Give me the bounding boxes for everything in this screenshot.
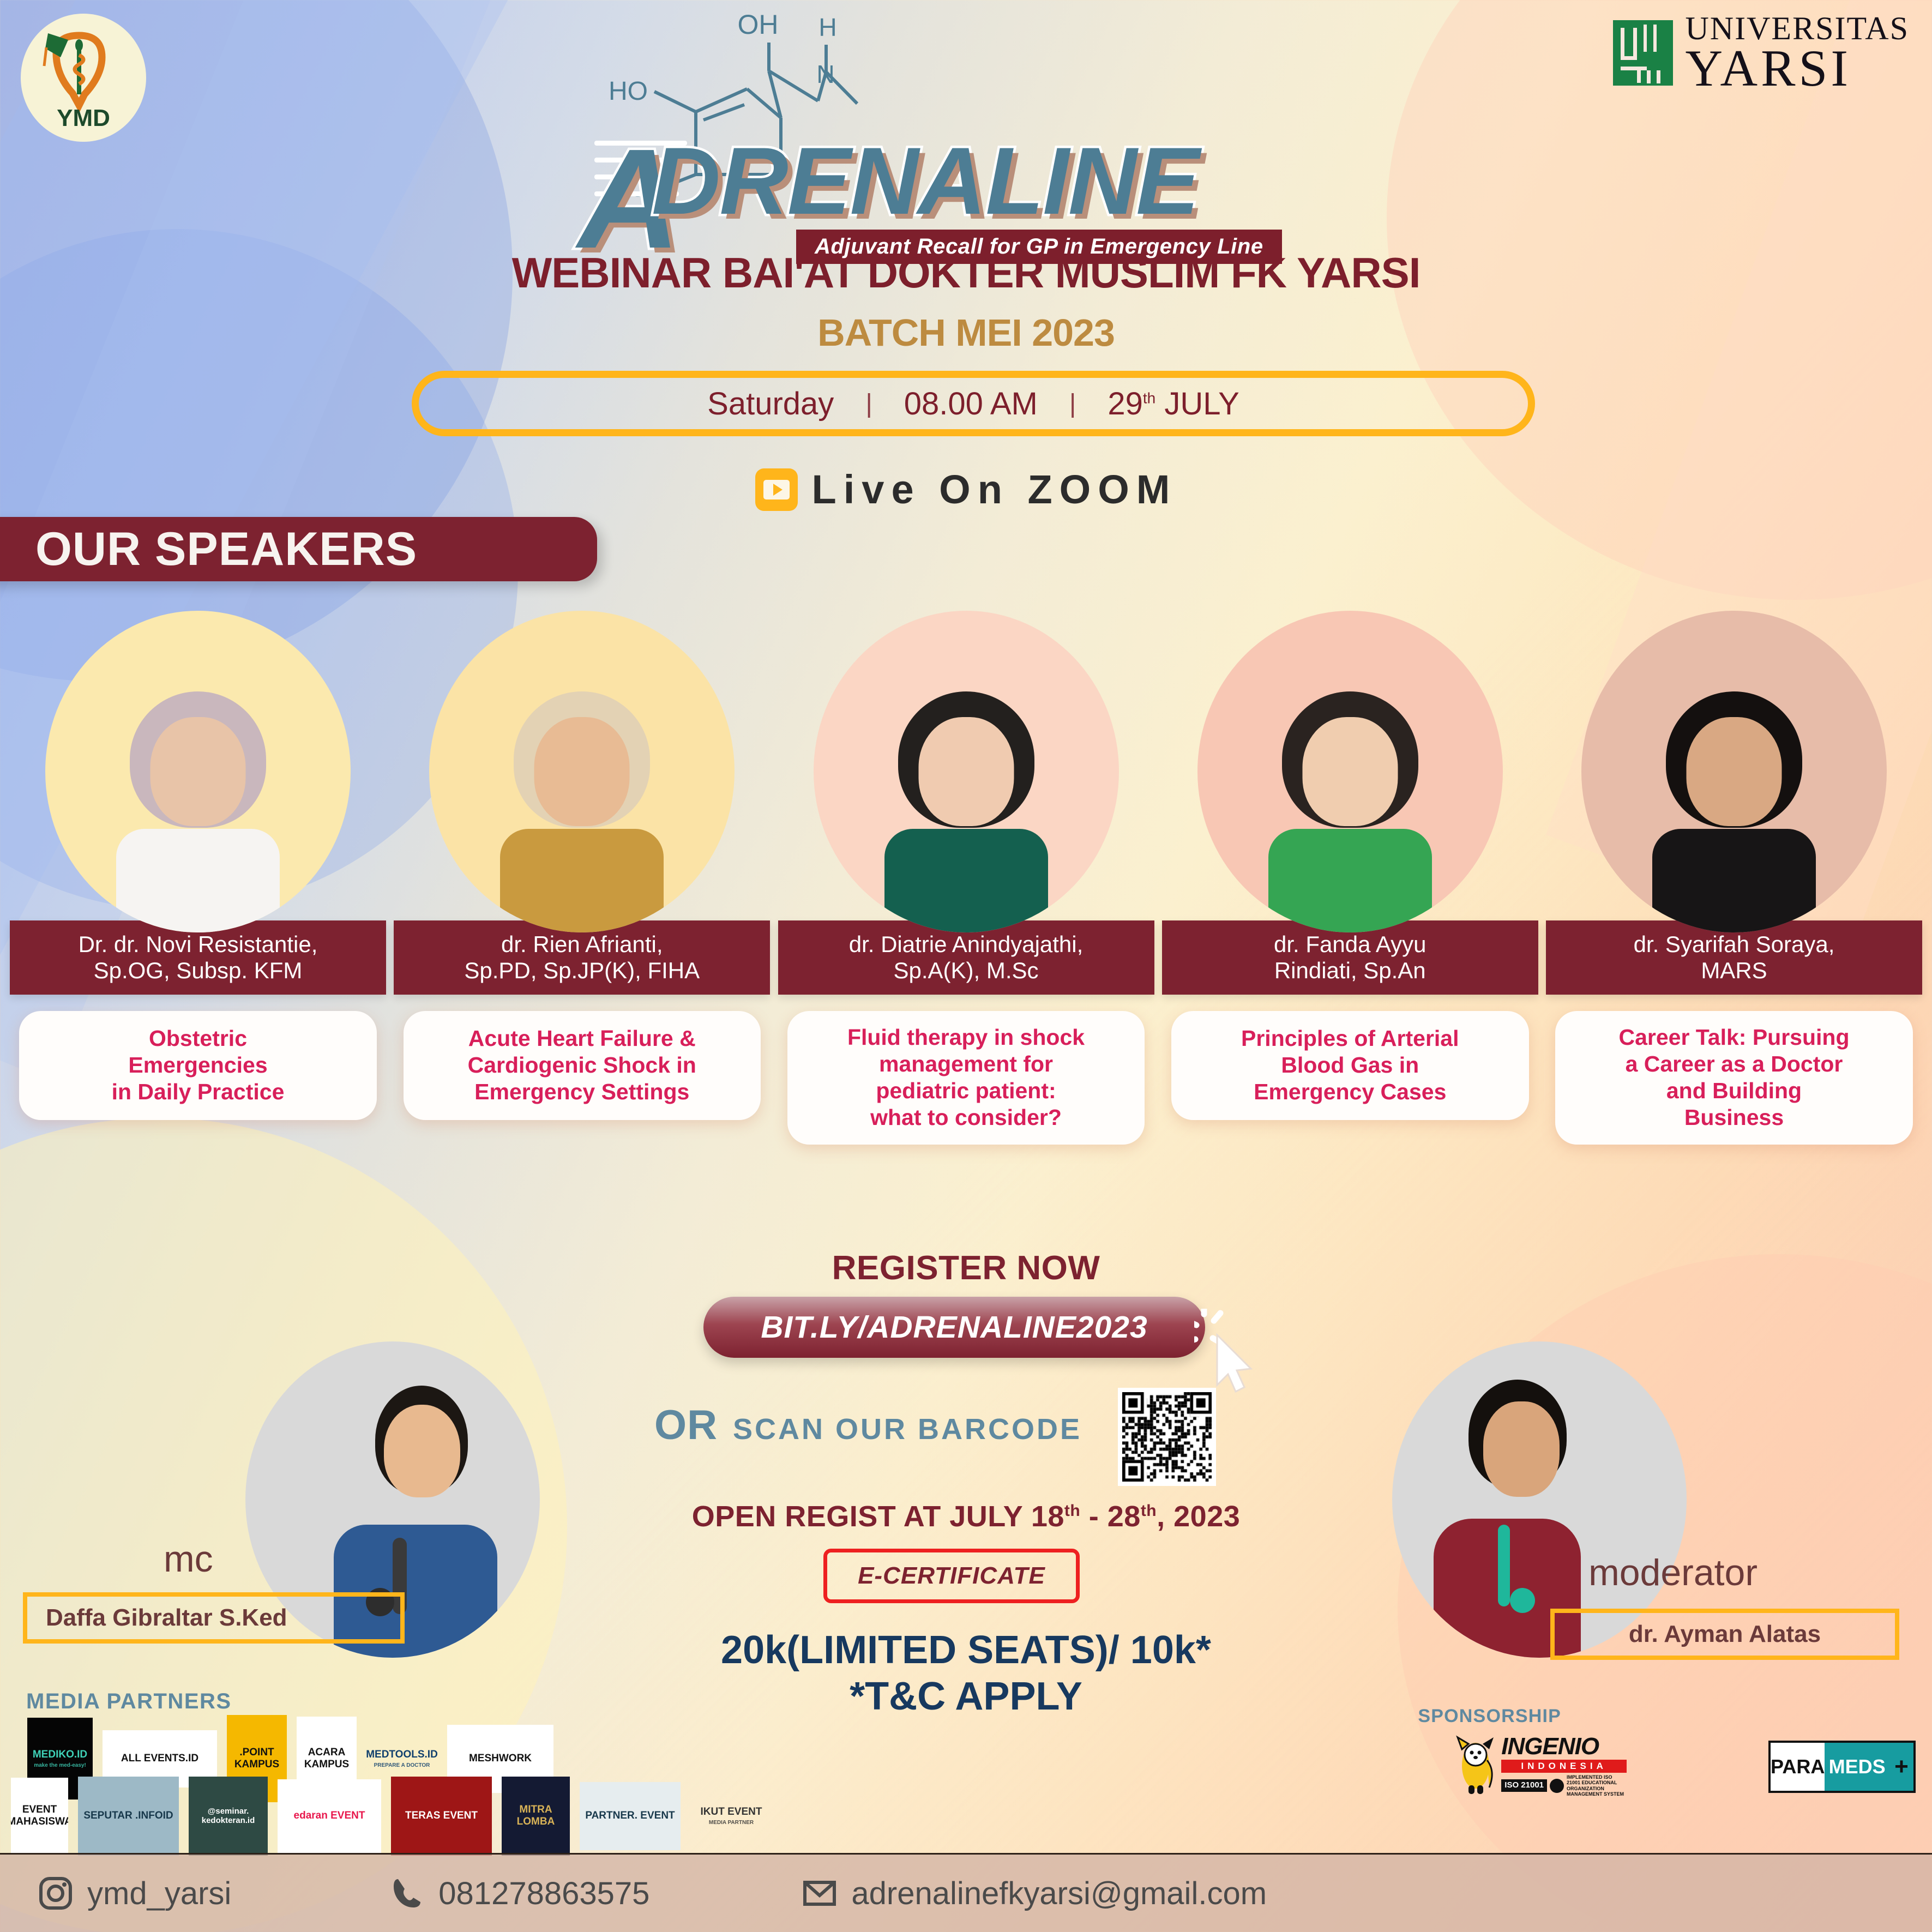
- speakers-grid: Dr. dr. Novi Resistantie,Sp.OG, Subsp. K…: [0, 611, 1932, 1145]
- sponsorship-title: SPONSORSHIP: [1418, 1706, 1561, 1727]
- speaker-photo: [1581, 611, 1887, 932]
- email-address: adrenalinefkyarsi@gmail.com: [851, 1875, 1267, 1912]
- media-partner-logo: PARTNER. EVENT: [580, 1782, 681, 1850]
- contact-instagram[interactable]: ymd_yarsi: [38, 1875, 231, 1912]
- mail-icon: [802, 1876, 837, 1911]
- speaker-topic: ObstetricEmergenciesin Daily Practice: [19, 1011, 377, 1120]
- e-certificate-label: E-CERTIFICATE: [858, 1562, 1045, 1590]
- datetime-separator-1: |: [865, 389, 872, 419]
- media-partner-name: IKUT EVENT: [701, 1806, 762, 1818]
- contact-phone[interactable]: 081278863575: [389, 1875, 649, 1912]
- alt-register-row: OR SCAN OUR BARCODE: [654, 1401, 1082, 1449]
- molecule-label-h: H: [818, 13, 836, 41]
- platform-row: Live On ZOOM: [0, 466, 1932, 513]
- media-partner-name: .POINT KAMPUS: [229, 1747, 285, 1771]
- media-partner-logo: TERAS EVENT: [391, 1777, 492, 1856]
- price-line-2: *T&C APPLY: [0, 1674, 1932, 1719]
- media-partner-name: edaran EVENT: [294, 1810, 365, 1822]
- media-partner-name: @seminar. kedokteran.id: [191, 1807, 266, 1826]
- media-partner-name: TERAS EVENT: [405, 1810, 478, 1822]
- registration-link-button[interactable]: BIT.LY/ADRENALINE2023: [703, 1297, 1205, 1358]
- mc-name: Daffa Gibraltar S.Ked: [46, 1604, 287, 1631]
- speaker-photo: [1197, 611, 1503, 932]
- media-partner-logo: MITRA LOMBA: [502, 1777, 570, 1856]
- media-partner-logo: IKUT EVENTMEDIA PARTNER: [690, 1775, 772, 1857]
- instagram-handle: ymd_yarsi: [87, 1875, 231, 1912]
- our-speakers-banner: OUR SPEAKERS: [0, 517, 597, 581]
- media-partner-tagline: MEDIA PARTNER: [709, 1820, 754, 1826]
- sponsor-ingenio-iso-desc: IMPLEMENTED ISO 21001 EDUCATIONAL ORGANI…: [1567, 1774, 1627, 1797]
- media-partner-name: MEDIKO.ID: [33, 1749, 87, 1761]
- platform-label: Live On ZOOM: [812, 466, 1177, 513]
- sponsor-parameds-right: MEDS: [1825, 1743, 1889, 1791]
- instagram-icon: [38, 1876, 73, 1911]
- contact-footer: ymd_yarsi 081278863575 adrenalinefkyarsi…: [0, 1853, 1932, 1932]
- ymd-logo: YMD: [21, 14, 146, 142]
- registration-link-text: BIT.LY/ADRENALINE2023: [761, 1309, 1147, 1345]
- sponsor-parameds-logo: PARA MEDS +: [1768, 1741, 1916, 1793]
- speaker-topic: Career Talk: Pursuinga Career as a Docto…: [1555, 1011, 1913, 1145]
- media-partners-title: MEDIA PARTNERS: [26, 1689, 232, 1714]
- event-batch: BATCH MEI 2023: [0, 311, 1932, 354]
- adrenaline-logo-text: DRENALINE: [652, 134, 1199, 229]
- sponsor-ingenio-country: INDONESIA: [1501, 1760, 1627, 1773]
- speaker-photo: [45, 611, 351, 932]
- event-datetime-bar: Saturday | 08.00 AM | 29th JULY: [412, 371, 1535, 436]
- sponsor-ingenio-logo: INGENIO INDONESIA ISO 21001 IMPLEMENTED …: [1454, 1733, 1627, 1798]
- mc-role-label: mc: [164, 1538, 213, 1580]
- scan-barcode-label: SCAN OUR BARCODE: [733, 1412, 1082, 1446]
- event-date: 29th JULY: [1108, 386, 1239, 422]
- qr-code-icon[interactable]: [1118, 1388, 1216, 1486]
- molecule-label-oh: OH: [738, 11, 779, 40]
- speaker-card: dr. Diatrie Anindyajathi,Sp.A(K), M.ScFl…: [778, 611, 1154, 1145]
- speaker-photo: [429, 611, 735, 932]
- media-partner-name: ALL EVENTS.ID: [121, 1753, 198, 1765]
- event-day: Saturday: [707, 386, 834, 422]
- media-partner-name: MEDTOOLS.ID: [366, 1749, 437, 1761]
- media-partner-name: MITRA LOMBA: [504, 1804, 568, 1828]
- media-partner-logo: SEPUTAR .INFOID: [78, 1777, 179, 1856]
- event-headline: WEBINAR BAI'AT DOKTER MUSLIM FK YARSI: [0, 248, 1932, 298]
- e-certificate-badge: E-CERTIFICATE: [823, 1549, 1080, 1603]
- adrenaline-logo: A DRENALINE Adjuvant Recall for GP in Em…: [578, 123, 1331, 232]
- moderator-role-label: moderator: [1588, 1551, 1758, 1594]
- or-label: OR: [654, 1401, 718, 1449]
- speaker-topic: Fluid therapy in shockmanagement forpedi…: [787, 1011, 1145, 1145]
- datetime-separator-2: |: [1069, 389, 1076, 419]
- sponsor-parameds-left: PARA: [1771, 1743, 1825, 1791]
- sponsor-ingenio-iso: ISO 21001: [1501, 1779, 1547, 1792]
- yarsi-emblem-icon: [1613, 20, 1673, 86]
- sponsor-ingenio-name: INGENIO: [1501, 1735, 1627, 1759]
- media-partner-name: ACARA KAMPUS: [299, 1747, 354, 1771]
- university-name-line2: YARSI: [1685, 44, 1909, 92]
- click-cursor-icon: [1194, 1309, 1265, 1399]
- ymd-logo-icon: YMD: [34, 23, 133, 133]
- speaker-card: dr. Fanda AyyuRindiati, Sp.AnPrinciples …: [1162, 611, 1538, 1145]
- moderator-name-box: dr. Ayman Alatas: [1550, 1609, 1899, 1660]
- contact-email[interactable]: adrenalinefkyarsi@gmail.com: [802, 1875, 1267, 1912]
- molecule-label-ho-top: HO: [609, 77, 648, 106]
- speaker-card: dr. Rien Afrianti,Sp.PD, Sp.JP(K), FIHAA…: [394, 611, 770, 1145]
- speaker-topic: Acute Heart Failure &Cardiogenic Shock i…: [404, 1011, 761, 1120]
- molecule-label-n: N: [816, 60, 834, 88]
- media-partner-logo: EVENT MAHASISWA: [11, 1778, 68, 1854]
- phone-icon: [389, 1876, 424, 1911]
- mc-name-box: Daffa Gibraltar S.Ked: [23, 1592, 405, 1644]
- media-partner-name: PARTNER. EVENT: [585, 1810, 675, 1822]
- our-speakers-label: OUR SPEAKERS: [35, 522, 417, 576]
- speaker-card: dr. Syarifah Soraya,MARSCareer Talk: Pur…: [1546, 611, 1922, 1145]
- media-partner-logo: edaran EVENT: [278, 1779, 381, 1853]
- play-button-icon: [755, 468, 798, 511]
- moderator-name: dr. Ayman Alatas: [1629, 1621, 1821, 1647]
- speaker-topic: Principles of ArterialBlood Gas inEmerge…: [1171, 1011, 1529, 1120]
- media-partner-tagline: PREPARE A DOCTOR: [374, 1762, 430, 1768]
- register-heading: REGISTER NOW: [0, 1249, 1932, 1287]
- media-partner-logo: @seminar. kedokteran.id: [189, 1777, 268, 1856]
- universitas-yarsi-logo: UNIVERSITAS YARSI: [1613, 14, 1909, 92]
- media-partner-tagline: make the med-easy!: [34, 1762, 86, 1768]
- media-partner-name: MESHWORK: [469, 1753, 532, 1765]
- media-partner-name: SEPUTAR .INFOID: [83, 1810, 173, 1822]
- ingenio-mascot-icon: [1454, 1733, 1497, 1798]
- sponsor-parameds-plus-icon: +: [1889, 1743, 1913, 1791]
- ymd-logo-text: YMD: [57, 105, 110, 131]
- phone-number: 081278863575: [438, 1875, 649, 1912]
- media-partner-name: EVENT MAHASISWA: [11, 1804, 68, 1828]
- event-time: 08.00 AM: [904, 386, 1038, 422]
- speaker-photo: [814, 611, 1119, 932]
- speaker-card: Dr. dr. Novi Resistantie,Sp.OG, Subsp. K…: [10, 611, 386, 1145]
- media-partners-row-2: EVENT MAHASISWASEPUTAR .INFOID@seminar. …: [11, 1775, 772, 1857]
